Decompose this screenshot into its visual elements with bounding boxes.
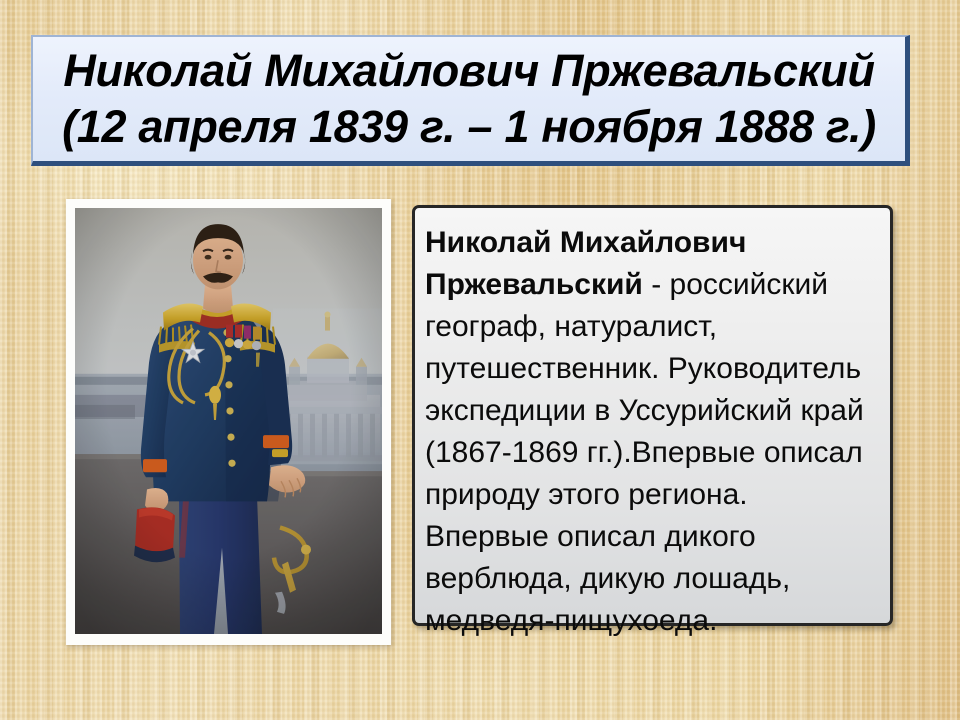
page-title-line-2: (12 апреля 1839 г. – 1 ноября 1888 г.): [62, 99, 876, 155]
description-textbox: Николай Михайлович Пржевальский - россий…: [412, 205, 893, 626]
slide-canvas: Николай Михайлович Пржевальский (12 апре…: [0, 0, 960, 720]
slide-title-banner: Николай Михайлович Пржевальский (12 апре…: [31, 35, 910, 166]
portrait-image: [75, 208, 382, 634]
portrait-illustration: [75, 208, 382, 634]
page-title-line-1: Николай Михайлович Пржевальский: [63, 43, 874, 99]
description-paragraph: Николай Михайлович Пржевальский - россий…: [425, 222, 874, 642]
description-body: - российский географ, натуралист, путеше…: [425, 268, 864, 637]
portrait-photo-frame: [66, 199, 391, 645]
